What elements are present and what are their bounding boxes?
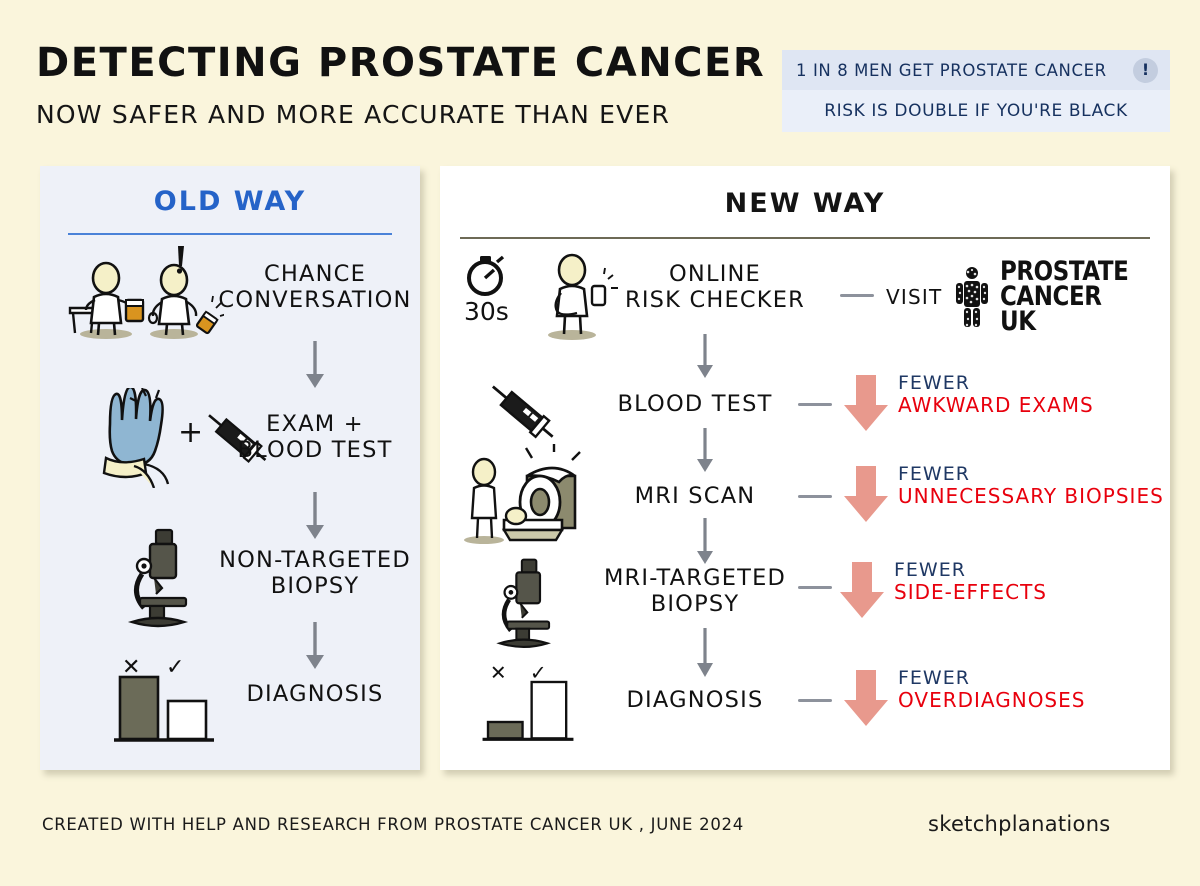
new-arrow-3-icon <box>685 518 725 570</box>
page-title: DETECTING PROSTATE CANCER <box>36 40 765 86</box>
new-way-divider <box>460 237 1150 239</box>
old-step-2-line2: BLOOD TEST <box>210 438 420 464</box>
old-step-3-line2: BIOPSY <box>210 574 420 600</box>
new-arrow-1-icon <box>685 334 725 384</box>
new-step-3-connector <box>798 495 832 498</box>
stopwatch-duration-label: 30s <box>464 297 509 326</box>
new-step-2-benefit-bottom: AWKWARD EXAMS <box>898 394 1094 416</box>
new-step-4-line2: BIOPSY <box>585 592 805 618</box>
new-step-2-benefit-top: FEWER <box>898 373 1094 394</box>
footer-brand[interactable]: sketchplanations <box>928 812 1111 836</box>
stat-line-2-text: RISK IS DOUBLE IF YOU'RE BLACK <box>824 101 1128 121</box>
new-step-2-label: BLOOD TEST <box>595 392 795 418</box>
new-step-4-benefit-bottom: SIDE-EFFECTS <box>894 581 1047 603</box>
new-step-5-benefit-bottom: OVERDIAGNOSES <box>898 689 1085 711</box>
svg-text:+: + <box>178 415 203 450</box>
new-way-title: NEW WAY <box>440 188 1170 219</box>
syringe-icon <box>470 371 575 451</box>
new-step-4-label: MRI-TARGETED BIOPSY <box>585 566 805 618</box>
mri-scanner-icon <box>454 444 589 549</box>
new-step-3-benefit-bottom: UNNECESSARY BIOPSIES <box>898 485 1164 507</box>
new-way-panel: NEW WAY 30s ONLINE RISK CHECKER VISIT <box>440 166 1170 770</box>
prostate-cancer-uk-logo[interactable]: PROSTATE CANCER UK <box>952 260 1170 334</box>
old-step-2-line1: EXAM + <box>210 412 420 438</box>
new-step-4-benefit: FEWER SIDE-EFFECTS <box>894 560 1047 604</box>
old-way-title: OLD WAY <box>40 186 420 217</box>
new-step-5-label: DIAGNOSIS <box>595 688 795 714</box>
statistics-callout: 1 IN 8 MEN GET PROSTATE CANCER ! RISK IS… <box>782 50 1170 132</box>
warning-icon-glyph: ! <box>1142 62 1149 78</box>
bar-chart-cross-label: ✕ <box>490 660 507 684</box>
visit-label: VISIT <box>886 286 942 309</box>
new-step-4-benefit-top: FEWER <box>894 560 1047 581</box>
down-arrow-icon <box>842 371 890 435</box>
stat-line-1: 1 IN 8 MEN GET PROSTATE CANCER ! <box>782 50 1170 90</box>
new-step-3-benefit-top: FEWER <box>898 464 1164 485</box>
footer-credit: CREATED WITH HELP AND RESEARCH FROM PROS… <box>42 815 744 834</box>
new-step-3-benefit: FEWER UNNECESSARY BIOPSIES <box>898 464 1164 508</box>
new-step-3-label: MRI SCAN <box>595 484 795 510</box>
new-step-5-benefit: FEWER OVERDIAGNOSES <box>898 668 1085 712</box>
new-step-2-benefit: FEWER AWKWARD EXAMS <box>898 373 1094 417</box>
down-arrow-icon <box>842 666 890 730</box>
old-way-panel: OLD WAY CHANCE CO <box>40 166 420 770</box>
old-step-4-label: DIAGNOSIS <box>210 682 420 708</box>
old-arrow-2-icon <box>295 492 335 544</box>
bar-chart-tick-label: ✓ <box>166 655 184 680</box>
old-step-1-line2: CONVERSATION <box>210 288 420 314</box>
two-people-drinking-icon <box>54 242 224 342</box>
old-step-3-label: NON-TARGETED BIOPSY <box>210 548 420 600</box>
old-step-3-line1: NON-TARGETED <box>210 548 420 574</box>
new-step-1-line1: ONLINE <box>600 262 830 288</box>
old-step-4-line1: DIAGNOSIS <box>210 682 420 708</box>
new-step-5-connector <box>798 699 832 702</box>
new-arrow-4-icon <box>685 628 725 684</box>
down-arrow-icon <box>842 462 890 526</box>
down-arrow-icon <box>838 558 886 622</box>
bar-chart-tick-label: ✓ <box>530 660 547 684</box>
old-arrow-1-icon <box>295 341 335 393</box>
old-step-1-line1: CHANCE <box>210 262 420 288</box>
new-step-4-line1: MRI-TARGETED <box>585 566 805 592</box>
stat-line-2: RISK IS DOUBLE IF YOU'RE BLACK <box>782 90 1170 132</box>
old-arrow-3-icon <box>295 622 335 674</box>
new-step-4-connector <box>798 586 832 589</box>
new-step-2-connector <box>798 403 832 406</box>
new-arrow-2-icon <box>685 428 725 478</box>
new-step-5-benefit-top: FEWER <box>898 668 1085 689</box>
microscope-icon <box>110 526 220 636</box>
microscope-icon <box>480 556 580 656</box>
page-subtitle: NOW SAFER AND MORE ACCURATE THAN EVER <box>36 100 670 129</box>
new-step-1-label: ONLINE RISK CHECKER <box>600 262 830 314</box>
new-step-1-line2: RISK CHECKER <box>600 288 830 314</box>
bar-chart-icon: ✕ ✓ <box>478 652 598 752</box>
old-way-divider <box>68 233 392 235</box>
stat-line-1-text: 1 IN 8 MEN GET PROSTATE CANCER <box>796 61 1107 80</box>
old-step-2-label: EXAM + BLOOD TEST <box>210 412 420 464</box>
old-step-1-label: CHANCE CONVERSATION <box>210 262 420 314</box>
prostate-cancer-uk-figure-icon <box>952 266 992 328</box>
logo-line-2: CANCER UK <box>1000 285 1145 335</box>
warning-icon: ! <box>1133 58 1158 83</box>
new-step-1-connector <box>840 294 874 297</box>
